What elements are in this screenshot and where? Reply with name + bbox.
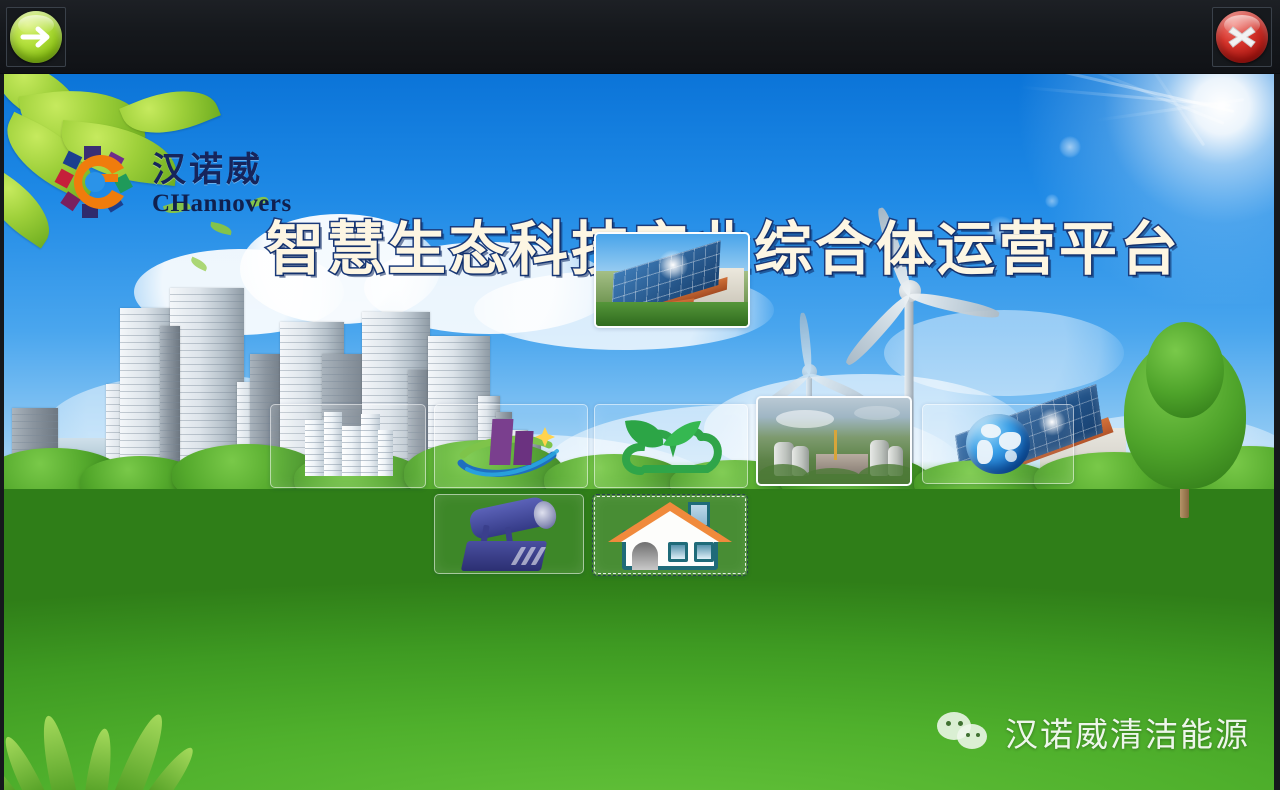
tile-high-rise[interactable] — [270, 404, 426, 488]
smoke — [776, 410, 834, 428]
house-icon — [606, 500, 734, 570]
next-button[interactable] — [6, 7, 66, 67]
earth-globe-icon — [963, 412, 1033, 476]
building — [324, 412, 342, 476]
crane — [834, 430, 837, 460]
tile-industry-park[interactable] — [434, 404, 588, 488]
landmass — [977, 440, 993, 464]
landmass — [981, 424, 1001, 438]
roof-inner — [621, 511, 719, 542]
smoke — [854, 406, 900, 420]
presentation-stage: 汉诺威 CHannovers 智慧生态科技产业综合体运营平台 — [0, 74, 1280, 790]
tile-solar-roof[interactable] — [594, 232, 750, 328]
cooling-towers-photo — [758, 398, 910, 484]
cannon-base — [461, 541, 547, 571]
photo-glint — [658, 250, 688, 280]
brand-name-cn: 汉诺威 — [152, 153, 292, 187]
building — [378, 430, 393, 476]
wechat-eye — [958, 721, 963, 726]
globe-sphere — [966, 414, 1030, 474]
tile-power-plant[interactable] — [756, 396, 912, 486]
close-button[interactable] — [1212, 7, 1272, 67]
wechat-bubble-small — [957, 724, 987, 749]
wechat-icon — [937, 712, 993, 752]
solar-roof-house-photo — [596, 234, 748, 326]
building — [305, 420, 325, 476]
tree-crown — [1146, 322, 1224, 418]
lens-flare — [1059, 136, 1081, 158]
industrial-park-logo — [453, 411, 569, 481]
tile-eco-cloud[interactable] — [594, 404, 748, 488]
wechat-eye — [966, 733, 970, 737]
vegetation — [802, 468, 862, 486]
wechat-eye — [976, 733, 980, 737]
wechat-eye — [946, 721, 951, 726]
toolbar — [0, 0, 1280, 74]
lens-flare — [1045, 194, 1059, 208]
brand-name-en: CHannovers — [152, 191, 292, 216]
brand-logo: 汉诺威 CHannovers — [54, 144, 292, 220]
photo-grass — [596, 302, 748, 326]
window — [694, 542, 714, 562]
vegetation — [758, 464, 808, 486]
wechat-account-name: 汉诺威清洁能源 — [1005, 708, 1250, 756]
landmass — [1005, 450, 1017, 462]
tile-fog-cannon[interactable] — [434, 494, 584, 574]
fog-cannon-sprayer-icon — [450, 497, 568, 571]
tile-global[interactable] — [922, 404, 1074, 484]
arrow-right-icon — [10, 11, 62, 63]
leaf-cloud-icon — [611, 413, 731, 479]
hannover-gear-c-logo — [54, 144, 138, 220]
window — [668, 542, 688, 562]
high-rise-buildings-icon — [293, 409, 403, 483]
vegetation — [858, 464, 912, 486]
wechat-watermark: 汉诺威清洁能源 — [937, 708, 1250, 756]
tile-smart-home[interactable] — [592, 494, 748, 576]
close-x-icon — [1216, 11, 1268, 63]
brand-text: 汉诺威 CHannovers — [152, 153, 292, 216]
door — [632, 542, 658, 570]
